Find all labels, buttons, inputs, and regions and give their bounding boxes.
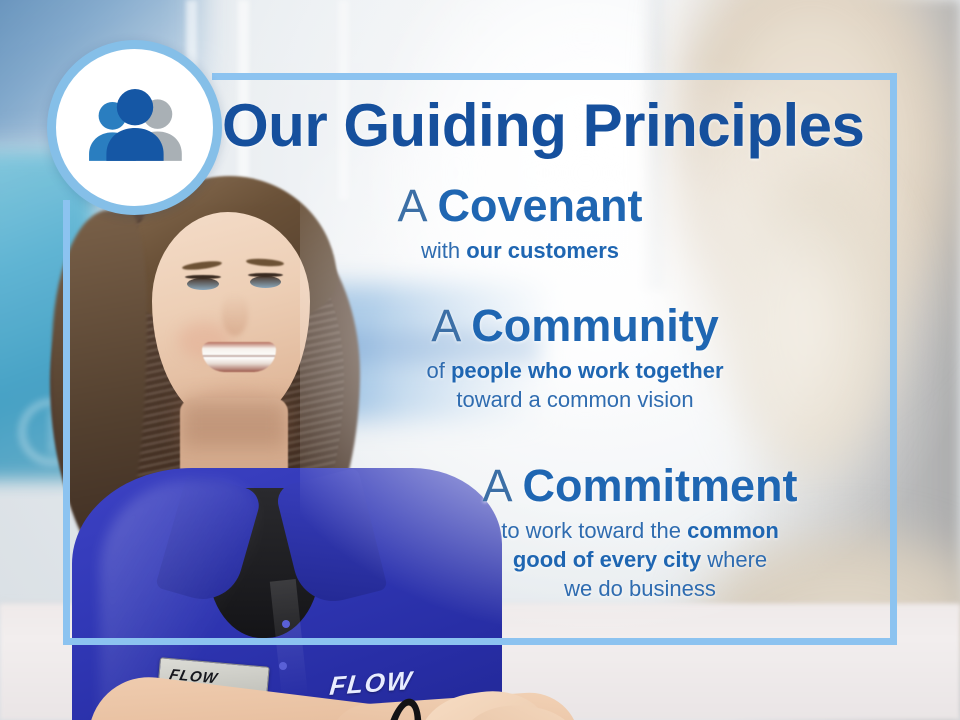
principle-2-article: A <box>431 300 471 351</box>
principle-3-article: A <box>482 460 522 511</box>
principle-2-sub-bold: people who work together <box>451 358 724 383</box>
principle-2-heading: A Community <box>340 302 810 350</box>
principle-3-keyword: Commitment <box>523 460 798 511</box>
page-title: Our Guiding Principles <box>222 96 922 156</box>
principle-1-keyword: Covenant <box>438 180 643 231</box>
principle-3-sub-bold-2: good of every city <box>513 547 701 572</box>
principle-3-sub-line-1: to work toward the common <box>400 516 880 545</box>
principle-3-subtext: to work toward the common good of every … <box>400 516 880 603</box>
principle-2-sub-regular: of <box>426 358 450 383</box>
principle-1-heading: A Covenant <box>300 182 740 230</box>
principle-3-sub-line-3: we do business <box>400 574 880 603</box>
principle-community: A Community of people who work together … <box>340 302 810 414</box>
principle-1-subtext: with our customers <box>300 236 740 265</box>
principle-3-sub-regular-2: where <box>701 547 767 572</box>
principle-1-sub-regular: with <box>421 238 466 263</box>
principle-3-heading: A Commitment <box>400 462 880 510</box>
principle-2-sub-line-2: toward a common vision <box>340 385 810 414</box>
principle-3-sub-regular-1: to work toward the <box>501 518 687 543</box>
principle-commitment: A Commitment to work toward the common g… <box>400 462 880 603</box>
text-content: Our Guiding Principles A Covenant with o… <box>0 0 960 720</box>
principle-3-sub-bold-1: common <box>687 518 779 543</box>
principle-2-sub-line-1: of people who work together <box>340 356 810 385</box>
principle-2-subtext: of people who work together toward a com… <box>340 356 810 414</box>
principle-covenant: A Covenant with our customers <box>300 182 740 265</box>
principle-2-keyword: Community <box>471 300 719 351</box>
principle-3-sub-line-2: good of every city where <box>400 545 880 574</box>
guiding-principles-poster: FLOW FLOW <box>0 0 960 720</box>
principle-1-sub-bold: our customers <box>466 238 619 263</box>
principle-1-article: A <box>397 180 437 231</box>
